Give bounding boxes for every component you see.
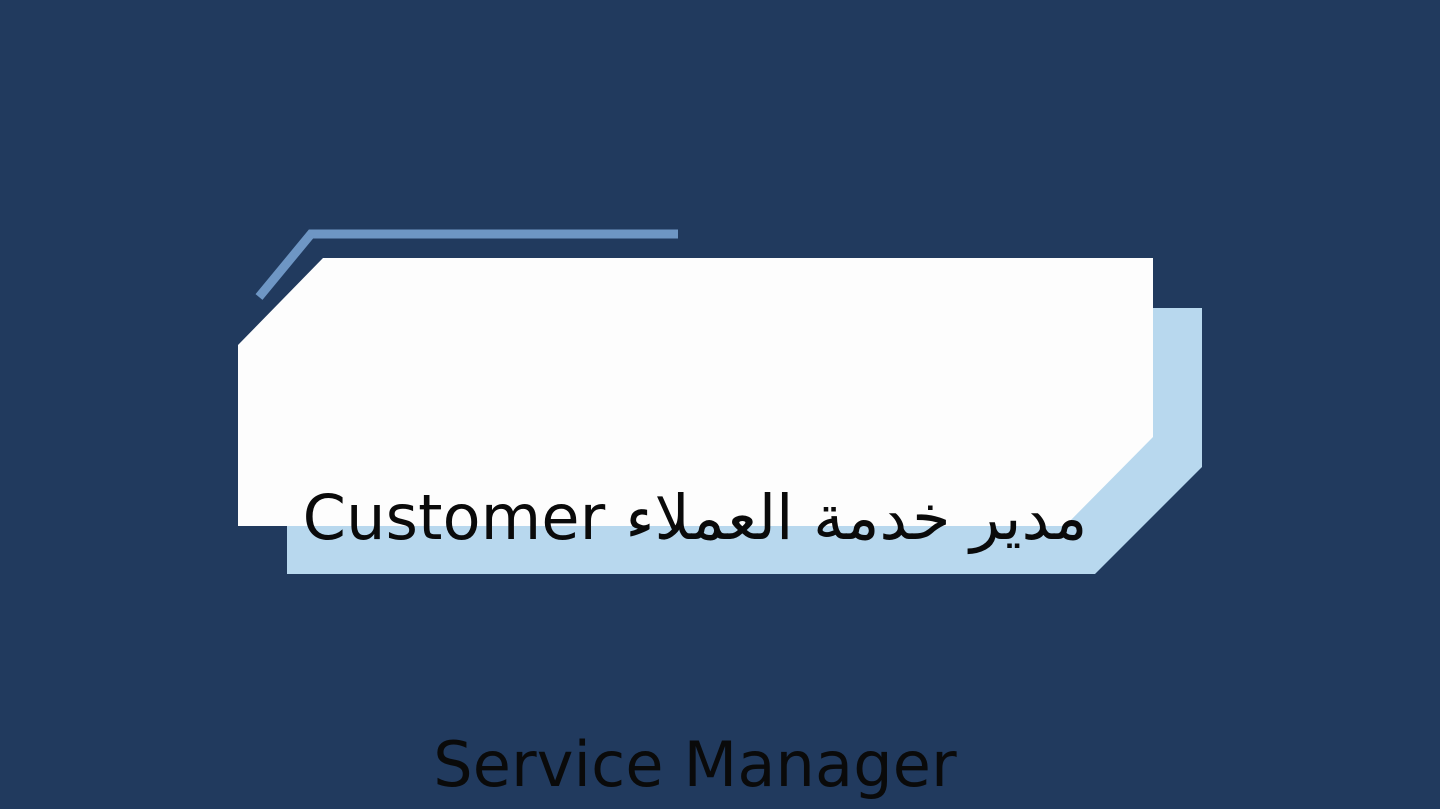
slide-title-line-2: Service Manager — [255, 724, 1135, 806]
slide-title-line-1: Customer مدير خدمة العملاء — [255, 477, 1135, 559]
slide-canvas: Customer مدير خدمة العملاء Service Manag… — [0, 0, 1440, 809]
slide-title: Customer مدير خدمة العملاء Service Manag… — [255, 312, 1135, 809]
